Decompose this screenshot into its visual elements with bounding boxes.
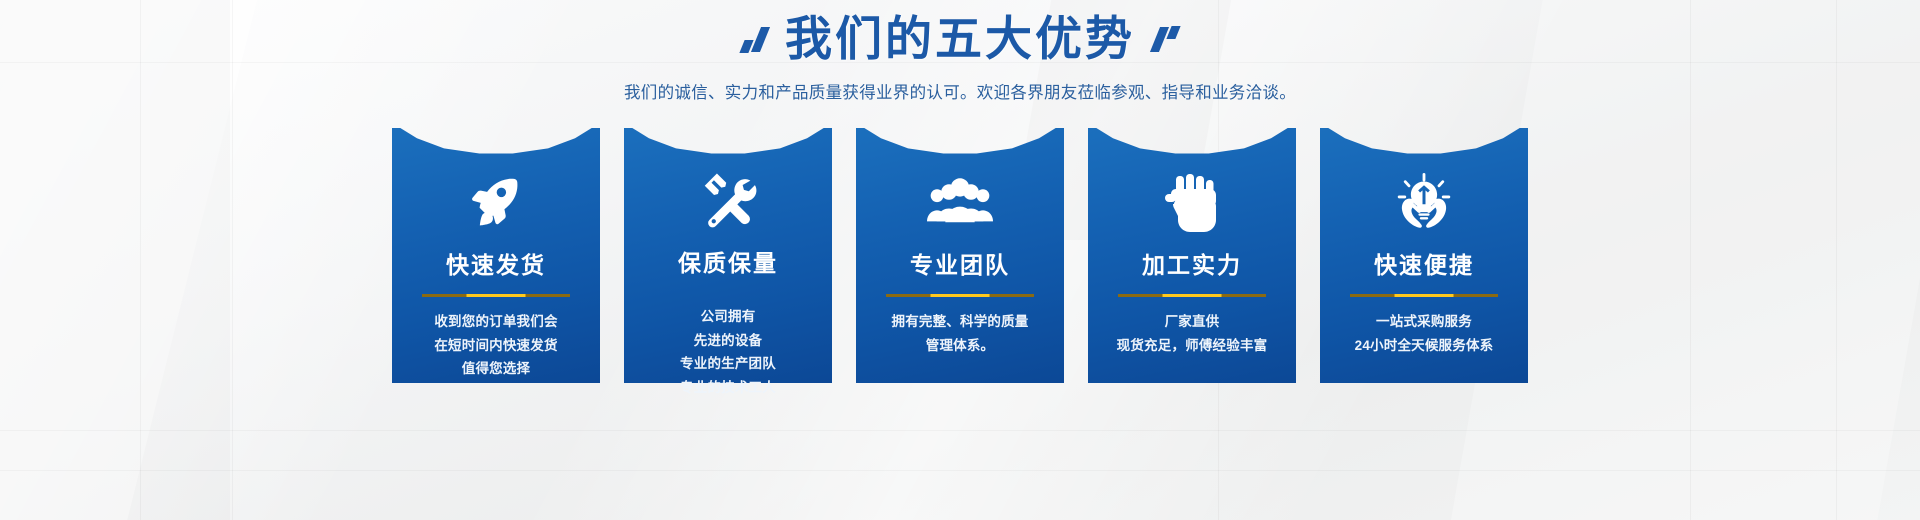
card-divider: [1118, 294, 1266, 297]
section-header: 我们的五大优势 我们的诚信、实力和产品质量获得业界的认可。欢迎各界朋友莅临参观、…: [0, 0, 1920, 103]
bulb-hands-icon: [1392, 172, 1456, 234]
card-title: 快速便捷: [1374, 246, 1474, 280]
card-description-line: 拥有完整、科学的质量: [892, 310, 1029, 334]
card-description: 收到您的订单我们会 在短时间内快速发货 值得您选择: [424, 310, 567, 381]
team-icon: [927, 172, 993, 234]
background-gridline: [0, 470, 1920, 471]
card-description-line: 公司拥有: [680, 305, 776, 329]
background-gridline: [0, 430, 1920, 431]
card-description: 一站式采购服务 24小时全天候服务体系: [1345, 310, 1504, 357]
rocket-icon: [466, 172, 526, 234]
title-decoration-left-icon: [742, 26, 765, 53]
card-title: 快速发货: [446, 246, 546, 280]
card-description: 公司拥有 先进的设备 专业的生产团队 专业的技术工人: [670, 305, 786, 400]
advantage-card[interactable]: 快速发货 收到您的订单我们会 在短时间内快速发货 值得您选择: [392, 128, 600, 383]
card-description-line: 值得您选择: [434, 357, 557, 381]
advantage-card[interactable]: 专业团队 拥有完整、科学的质量 管理体系。: [856, 128, 1064, 383]
advantage-card[interactable]: 加工实力 厂家直供 现货充足，师傅经验丰富: [1088, 128, 1296, 383]
card-divider: [1350, 294, 1498, 297]
card-description: 拥有完整、科学的质量 管理体系。: [882, 310, 1039, 357]
card-description: 厂家直供 现货充足，师傅经验丰富: [1107, 310, 1278, 357]
card-divider: [422, 294, 570, 297]
card-description-line: 专业的生产团队: [680, 352, 776, 376]
advantage-card-list: 快速发货 收到您的订单我们会 在短时间内快速发货 值得您选择 保质保量 公: [0, 128, 1920, 383]
card-description-line: 厂家直供: [1117, 310, 1268, 334]
card-title: 加工实力: [1142, 246, 1242, 280]
card-description-line: 24小时全天候服务体系: [1355, 334, 1494, 358]
advantage-card[interactable]: 快速便捷 一站式采购服务 24小时全天候服务体系: [1320, 128, 1528, 383]
advantage-card[interactable]: 保质保量 公司拥有 先进的设备 专业的生产团队 专业的技术工人: [624, 128, 832, 383]
card-description-line: 收到您的订单我们会: [434, 310, 557, 334]
card-description-line: 一站式采购服务: [1355, 310, 1494, 334]
fist-icon: [1164, 172, 1220, 234]
page-subtitle: 我们的诚信、实力和产品质量获得业界的认可。欢迎各界朋友莅临参观、指导和业务洽谈。: [0, 79, 1920, 103]
card-description-line: 先进的设备: [680, 329, 776, 353]
card-divider: [886, 294, 1034, 297]
card-description-line: 专业的技术工人: [680, 376, 776, 400]
card-title: 专业团队: [910, 246, 1010, 280]
card-title: 保质保量: [678, 244, 778, 278]
card-description-line: 管理体系。: [892, 334, 1029, 358]
title-decoration-right-icon: [1155, 27, 1178, 52]
title-row: 我们的五大优势: [0, 16, 1920, 63]
card-description-line: 在短时间内快速发货: [434, 334, 557, 358]
card-description-line: 现货充足，师傅经验丰富: [1117, 334, 1268, 358]
page-title: 我们的五大优势: [785, 16, 1135, 63]
tools-icon: [698, 172, 758, 232]
